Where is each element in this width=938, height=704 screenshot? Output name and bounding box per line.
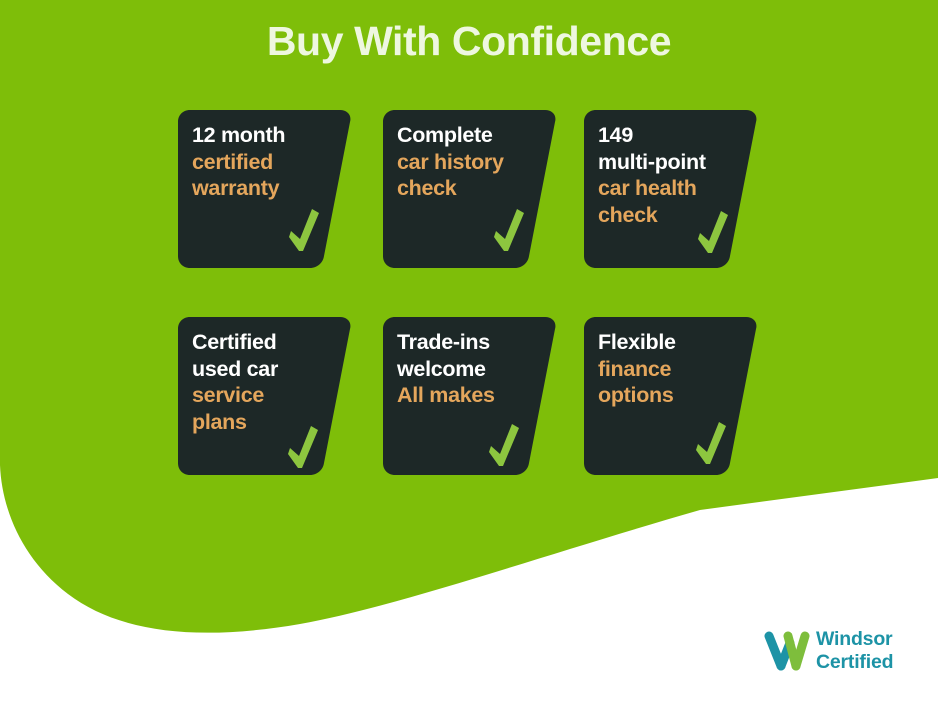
card-line: finance [598, 356, 740, 383]
card-line: certified [192, 149, 334, 176]
card-line: check [397, 175, 539, 202]
card-line: Flexible [598, 329, 740, 356]
card-line: used car [192, 356, 334, 383]
card-text: Flexible finance options [598, 329, 740, 409]
card-line: options [598, 382, 740, 409]
benefit-card[interactable]: Flexible finance options [584, 317, 758, 475]
check-mark-icon [694, 421, 728, 465]
card-line: Complete [397, 122, 539, 149]
card-text: Certified used car service plans [192, 329, 334, 435]
poster-canvas: Buy With Confidence 12 month certified w… [0, 0, 938, 704]
benefit-card[interactable]: Certified used car service plans [178, 317, 352, 475]
card-line: 149 [598, 122, 740, 149]
card-line: Certified [192, 329, 334, 356]
check-mark-icon [487, 423, 521, 467]
windsor-certified-logo[interactable]: Windsor Certified [764, 628, 924, 678]
check-mark-icon [287, 208, 321, 252]
benefit-card[interactable]: Complete car history check [383, 110, 557, 268]
logo-line-2: Certified [816, 651, 893, 674]
logo-line-1: Windsor [816, 628, 893, 651]
check-mark-icon [696, 210, 730, 254]
windsor-w-mark-icon [764, 630, 810, 674]
card-line: Trade-ins [397, 329, 539, 356]
logo-wordmark: Windsor Certified [816, 628, 893, 673]
card-line: All makes [397, 382, 539, 409]
card-text: Trade-ins welcome All makes [397, 329, 539, 409]
card-line: warranty [192, 175, 334, 202]
card-text: Complete car history check [397, 122, 539, 202]
benefit-card[interactable]: Trade-ins welcome All makes [383, 317, 557, 475]
benefit-card[interactable]: 12 month certified warranty [178, 110, 352, 268]
page-title: Buy With Confidence [0, 18, 938, 65]
card-line: multi-point [598, 149, 740, 176]
card-line: welcome [397, 356, 539, 383]
check-mark-icon [492, 208, 526, 252]
check-mark-icon [286, 425, 320, 469]
card-text: 12 month certified warranty [192, 122, 334, 202]
benefit-card[interactable]: 149 multi-point car health check [584, 110, 758, 268]
card-line: car health [598, 175, 740, 202]
card-line: car history [397, 149, 539, 176]
card-line: service [192, 382, 334, 409]
card-line: 12 month [192, 122, 334, 149]
benefit-card-grid: 12 month certified warranty Complete car… [178, 110, 758, 475]
